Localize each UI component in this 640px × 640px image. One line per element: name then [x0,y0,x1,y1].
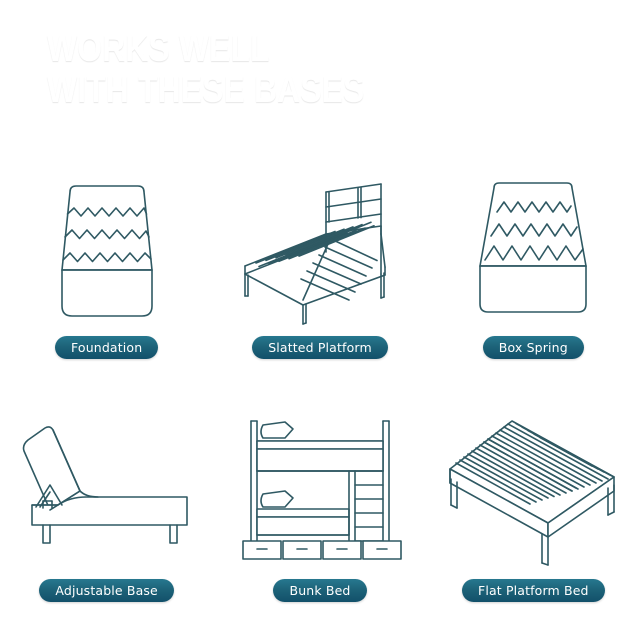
base-card-box-spring[interactable]: Box Spring [427,158,640,399]
base-card-adjustable-base[interactable]: Adjustable Base [0,399,213,640]
base-card-bunk-bed[interactable]: Bunk Bed [213,399,426,640]
base-label-box-spring: Box Spring [483,336,584,359]
bunk-bed-icon [225,413,415,573]
base-label-bunk-bed: Bunk Bed [273,579,366,602]
base-label-foundation: Foundation [55,336,158,359]
page-title: WORKS WELL WITH THESE BASES [47,28,364,110]
foundation-mattress-icon [12,174,202,334]
slatted-platform-bed-icon [225,174,415,334]
adjustable-base-icon [12,413,202,573]
base-card-flat-platform-bed[interactable]: Flat Platform Bed [427,399,640,640]
box-spring-icon [438,174,628,334]
base-card-slatted-platform[interactable]: Slatted Platform [213,158,426,399]
header-banner: WORKS WELL WITH THESE BASES [0,0,640,158]
base-label-adjustable-base: Adjustable Base [39,579,174,602]
works-well-with-these-bases-panel: WORKS WELL WITH THESE BASES Foundation [0,0,640,640]
base-card-foundation[interactable]: Foundation [0,158,213,399]
base-label-flat-platform-bed: Flat Platform Bed [462,579,605,602]
bases-grid: Foundation [0,158,640,640]
flat-platform-bed-icon [438,413,628,573]
base-label-slatted-platform: Slatted Platform [252,336,388,359]
